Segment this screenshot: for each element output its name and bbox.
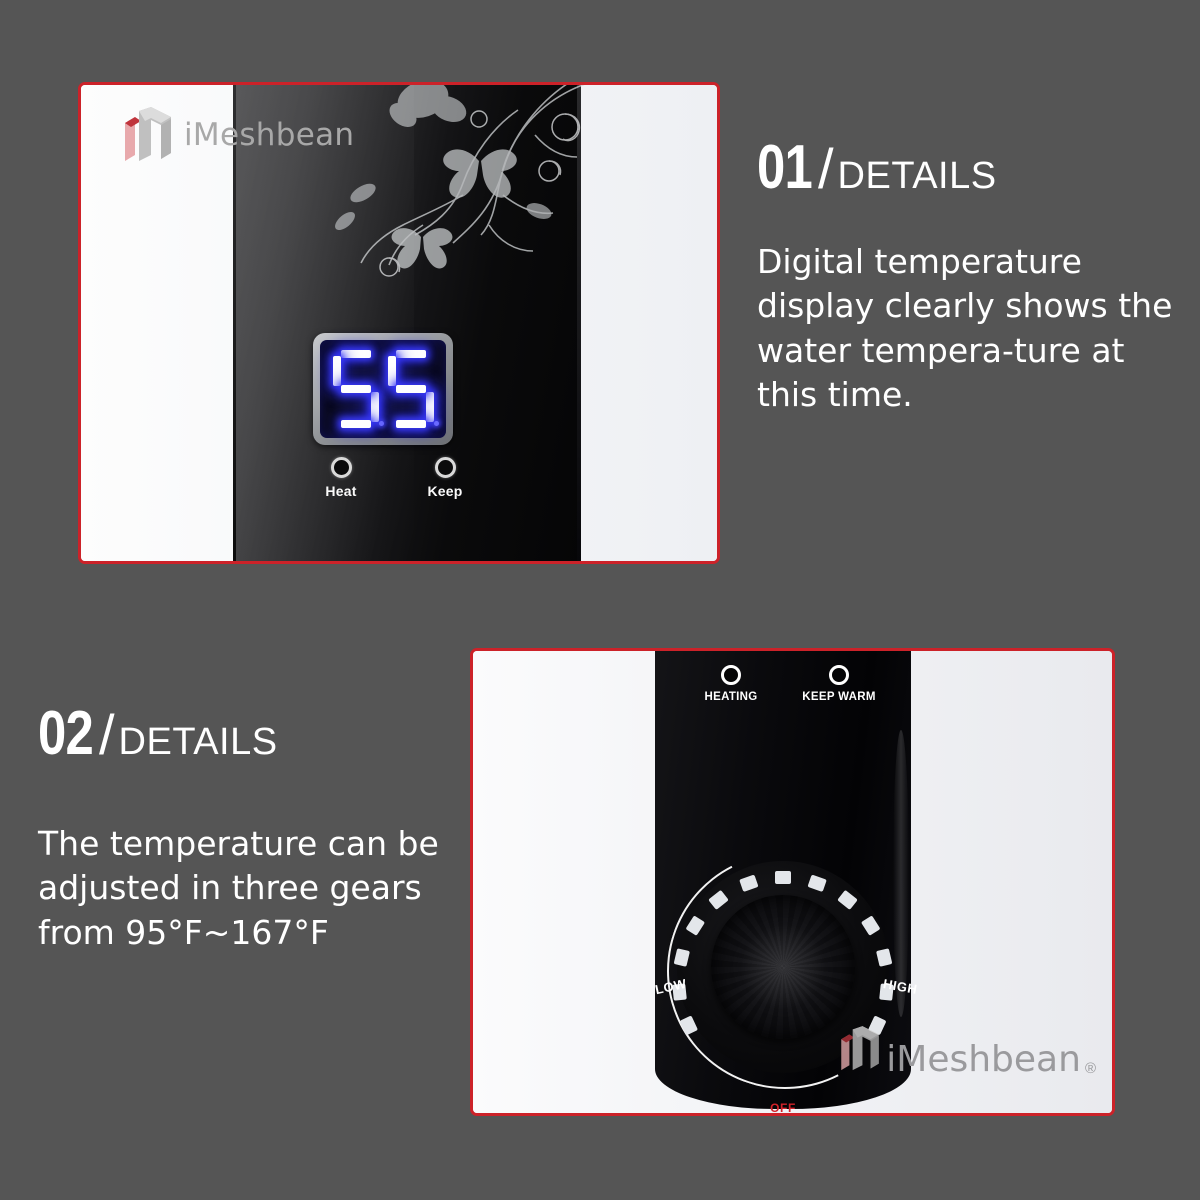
led-ring-icon <box>435 457 456 478</box>
segment-a <box>396 350 426 358</box>
product-photo-display: iMeshbean <box>78 82 720 564</box>
indicator-keep-label: Keep <box>417 483 473 499</box>
section-01-number: 01 <box>757 140 812 196</box>
indicator-keep-warm-label: KEEP WARM <box>793 691 885 703</box>
decimal-dot <box>379 421 384 426</box>
segment-f <box>333 356 341 386</box>
led-ring-icon <box>721 665 741 685</box>
indicator-heat: Heat <box>313 457 369 499</box>
segment-d <box>341 420 371 428</box>
section-02-headline: 02 / DETAILS <box>38 706 458 762</box>
imeshbean-logo-icon <box>838 1021 882 1077</box>
dial-label-off: OFF <box>770 1101 796 1115</box>
digital-temperature-display <box>313 333 453 445</box>
brand-wordmark: iMeshbean <box>184 117 354 153</box>
panel-right-edge <box>577 85 581 561</box>
section-02-word: DETAILS <box>119 725 278 759</box>
segment-a <box>341 350 371 358</box>
details-section-02: 02 / DETAILS The temperature can be adju… <box>38 706 458 955</box>
section-01-word: DETAILS <box>838 159 997 193</box>
brand-watermark: iMeshbean ® <box>838 1021 1096 1077</box>
rotary-knob[interactable] <box>711 895 855 1039</box>
indicator-keep: Keep <box>417 457 473 499</box>
led-ring-icon <box>331 457 352 478</box>
segment-f <box>388 356 396 386</box>
registered-trademark-symbol: ® <box>1085 1060 1096 1077</box>
decimal-dot <box>434 421 439 426</box>
section-01-headline: 01 / DETAILS <box>757 140 1177 196</box>
segment-c <box>371 392 379 422</box>
indicator-heating-label: HEATING <box>685 691 777 703</box>
segment-g <box>396 385 426 393</box>
details-section-01: 01 / DETAILS Digital temperature display… <box>757 140 1177 418</box>
indicator-heat-label: Heat <box>313 483 369 499</box>
seven-segment-digit <box>388 350 434 428</box>
section-01-body: Digital temperature display clearly show… <box>757 240 1177 418</box>
section-02-number: 02 <box>38 706 93 762</box>
indicator-heating: HEATING <box>685 665 777 703</box>
led-screen <box>320 340 446 438</box>
section-02-slash: / <box>99 710 115 760</box>
brand-logo: iMeshbean <box>121 107 354 163</box>
led-ring-icon <box>829 665 849 685</box>
imeshbean-logo-icon <box>121 107 175 163</box>
section-01-slash: / <box>818 144 834 194</box>
watermark-wordmark: iMeshbean <box>886 1043 1081 1077</box>
indicator-light-row: Heat Keep <box>313 457 473 499</box>
section-02-body: The temperature can be adjusted in three… <box>38 822 458 956</box>
segment-c <box>426 392 434 422</box>
segment-g <box>341 385 371 393</box>
seven-segment-digit <box>333 350 379 428</box>
indicator-keep-warm: KEEP WARM <box>793 665 885 703</box>
indicator-light-row: HEATING KEEP WARM <box>685 665 885 703</box>
product-photo-knob: HEATING KEEP WARM LOW HIGH OFF iMeshbean… <box>470 648 1115 1116</box>
segment-d <box>396 420 426 428</box>
dial-tick <box>775 871 791 884</box>
